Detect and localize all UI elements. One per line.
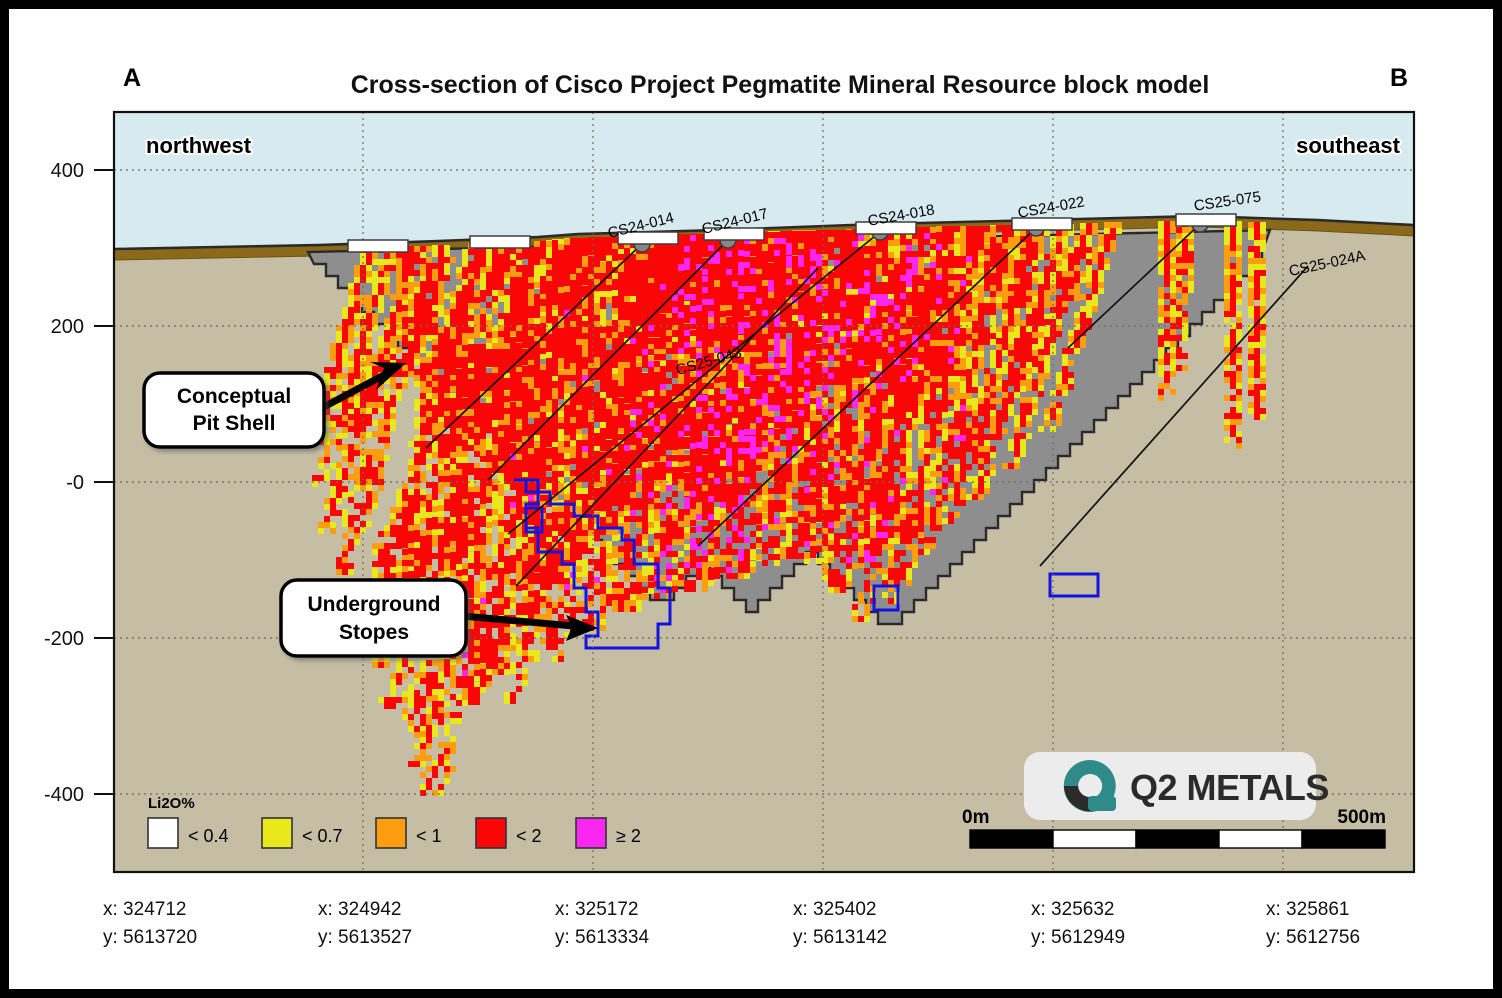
orientation-label-northwest: northwest [146, 133, 252, 158]
coordinate-y-2: y: 5613334 [555, 927, 649, 948]
coordinate-y-5: y: 5612756 [1266, 927, 1360, 948]
stopes-callout-line2: Stopes [339, 621, 409, 644]
y-tick-m400: -400 [44, 784, 84, 806]
pit-shell-callout-line2: Pit Shell [193, 412, 276, 435]
coordinate-y-0: y: 5613720 [103, 927, 197, 948]
legend-label-1: < 0.7 [302, 826, 343, 846]
stopes-callout-box [281, 580, 466, 656]
figure-stage: A B Cross-section of Cisco Project Pegma… [18, 18, 1502, 998]
coordinate-x-1: x: 324942 [318, 899, 401, 920]
y-axis: 400 200 -0 -200 -400 [44, 160, 114, 806]
cross-section-figure: A B Cross-section of Cisco Project Pegma… [18, 18, 1502, 998]
coordinate-y-3: y: 5613142 [793, 927, 887, 948]
logo-tail [1088, 796, 1116, 811]
q2-metals-logo: Q2 METALS [1024, 752, 1329, 820]
pit-shell-callout-line1: Conceptual [177, 385, 291, 408]
coordinate-labels: x: 324712y: 5613720x: 324942y: 5613527x:… [103, 899, 1360, 948]
coordinate-y-4: y: 5612949 [1031, 927, 1125, 948]
coordinate-x-2: x: 325172 [555, 899, 638, 920]
legend-title: Li2O% [148, 795, 195, 812]
scalebar-start-label: 0m [962, 807, 989, 828]
coordinate-x-5: x: 325861 [1266, 899, 1349, 920]
logo-wordmark: Q2 METALS [1130, 767, 1329, 808]
section-label-b: B [1390, 64, 1408, 92]
image-frame: A B Cross-section of Cisco Project Pegma… [0, 0, 1502, 998]
legend-swatch-3 [476, 818, 506, 848]
scalebar-end-label: 500m [1337, 807, 1386, 828]
y-tick-m200: -200 [44, 628, 84, 650]
section-label-a: A [123, 64, 141, 92]
legend-swatch-2 [376, 818, 406, 848]
legend-label-3: < 2 [516, 826, 542, 846]
page-title: Cross-section of Cisco Project Pegmatite… [351, 71, 1210, 99]
y-tick-400: 400 [51, 160, 84, 182]
coordinate-x-4: x: 325632 [1031, 899, 1114, 920]
y-tick-200: 200 [51, 316, 84, 338]
y-tick-0: -0 [66, 472, 84, 494]
legend-label-0: < 0.4 [188, 826, 229, 846]
coordinate-y-1: y: 5613527 [318, 927, 412, 948]
legend-label-2: < 1 [416, 826, 442, 846]
legend-label-4: ≥ 2 [616, 826, 641, 846]
coordinate-x-0: x: 324712 [103, 899, 186, 920]
legend-swatch-4 [576, 818, 606, 848]
legend-swatch-0 [148, 818, 178, 848]
stopes-callout-line1: Underground [308, 593, 441, 616]
orientation-label-southeast: southeast [1296, 133, 1401, 158]
legend-swatch-1 [262, 818, 292, 848]
coordinate-x-3: x: 325402 [793, 899, 876, 920]
